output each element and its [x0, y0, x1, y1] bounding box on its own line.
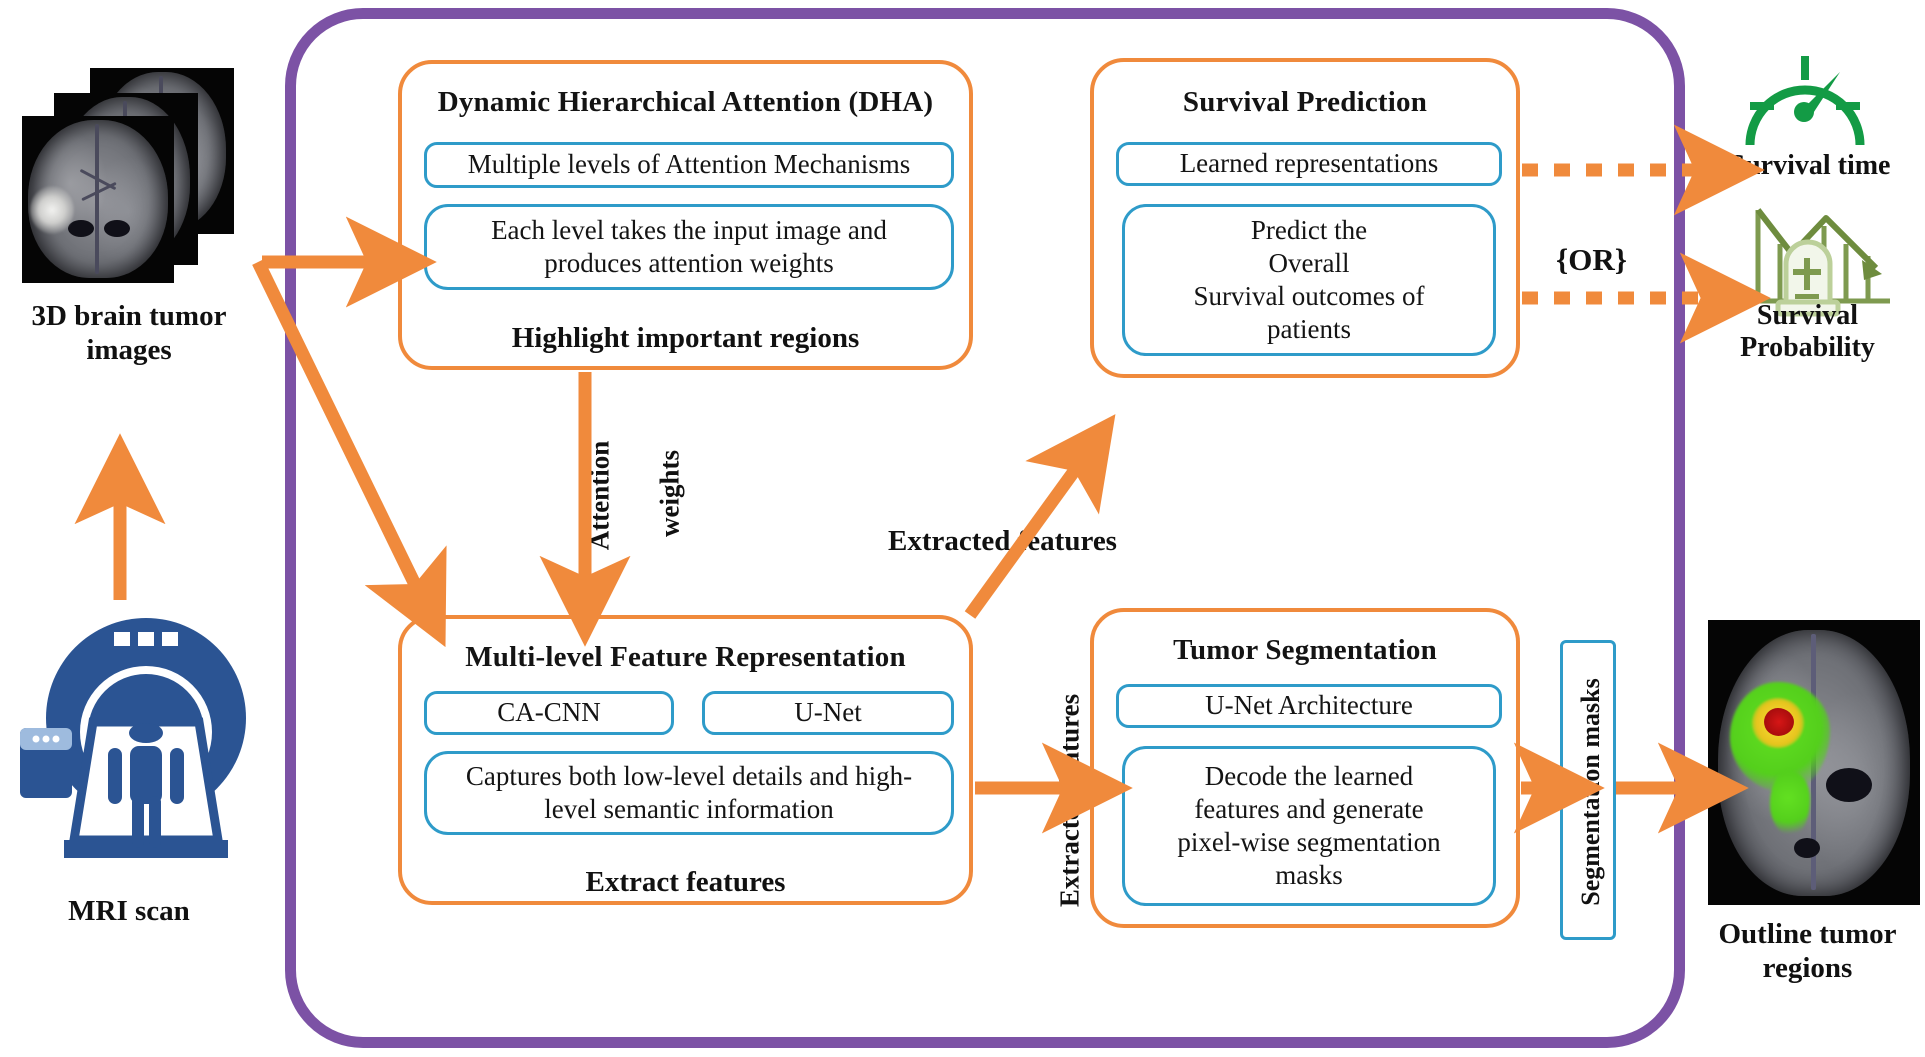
mri-scanner-svg: [18, 600, 248, 890]
outline-tumor-line2: regions: [1763, 952, 1853, 984]
diagram-canvas: 3D brain tumor images: [0, 0, 1925, 1057]
speedometer-gauge-svg: [1730, 40, 1880, 160]
survival-probability-line1: Survival: [1757, 300, 1858, 331]
attention-weights-label-part1: Attention: [585, 421, 616, 571]
outline-tumor-caption: Outline tumor regions: [1690, 918, 1925, 985]
panel-tumor-segmentation: Tumor Segmentation U-Net Architecture De…: [1090, 608, 1520, 928]
survival-box2-line3: Survival outcomes of: [1194, 280, 1425, 313]
panel-survival-prediction: Survival Prediction Learned representati…: [1090, 58, 1520, 378]
segmentation-box2-line3: pixel-wise segmentation: [1177, 826, 1440, 859]
segmentation-box2-line2: features and generate: [1194, 793, 1423, 826]
attention-weights-label-part2: weights: [655, 419, 686, 569]
brain-stack-caption-line2: images: [86, 334, 171, 366]
features-desc-line1: Captures both low-level details and high…: [466, 760, 912, 793]
survival-box-predict-outcomes[interactable]: Predict the Overall Survival outcomes of…: [1122, 204, 1496, 356]
brain-mri-slice-stack-icon: [18, 68, 248, 283]
dha-box2-line2: produces attention weights: [544, 247, 833, 280]
features-title: Multi-level Feature Representation: [402, 641, 969, 674]
features-box-description[interactable]: Captures both low-level details and high…: [424, 751, 954, 835]
features-box-unet[interactable]: U-Net: [702, 691, 954, 735]
panel-dynamic-hierarchical-attention: Dynamic Hierarchical Attention (DHA) Mul…: [398, 60, 973, 370]
survival-probability-caption: Survival Probability: [1690, 300, 1925, 365]
survival-box2-line4: patients: [1267, 313, 1351, 346]
dha-box2-line1: Each level takes the input image and: [491, 214, 887, 247]
segmentation-masks-box[interactable]: Segmentation masks: [1560, 640, 1616, 940]
mri-scan-caption: MRI scan: [6, 895, 252, 929]
survival-title: Survival Prediction: [1094, 86, 1516, 119]
outline-tumor-line1: Outline tumor: [1718, 918, 1896, 950]
brain-stack-caption-line1: 3D brain tumor: [32, 300, 227, 332]
survival-box2-line1: Predict the: [1251, 214, 1367, 247]
dha-footer: Highlight important regions: [402, 322, 969, 356]
extracted-features-diagonal-label: Extracted features: [888, 525, 1117, 558]
dha-box-level-behavior[interactable]: Each level takes the input image and pro…: [424, 204, 954, 290]
segmentation-box-decode[interactable]: Decode the learned features and generate…: [1122, 746, 1496, 906]
segmentation-box2-line1: Decode the learned: [1205, 760, 1413, 793]
speedometer-gauge-icon: [1730, 40, 1880, 160]
dha-title: Dynamic Hierarchical Attention (DHA): [402, 86, 969, 119]
features-desc-line2: level semantic information: [544, 793, 833, 826]
brain-stack-caption: 3D brain tumor images: [6, 300, 252, 367]
segmentation-masks-label: Segmentation masks: [1576, 642, 1606, 942]
survival-box-learned-representations[interactable]: Learned representations: [1116, 142, 1502, 186]
extracted-features-vertical-label: Extracted features: [1055, 651, 1086, 951]
survival-probability-line2: Probability: [1740, 332, 1875, 363]
segmentation-title: Tumor Segmentation: [1094, 634, 1516, 667]
or-label: {OR}: [1556, 242, 1627, 278]
dha-box-attention-levels[interactable]: Multiple levels of Attention Mechanisms: [424, 142, 954, 188]
mri-scanner-icon: [18, 600, 248, 890]
survival-box2-line2: Overall: [1269, 247, 1350, 280]
features-footer: Extract features: [402, 866, 969, 900]
panel-multilevel-feature-representation: Multi-level Feature Representation CA-CN…: [398, 615, 973, 905]
features-box-ca-cnn[interactable]: CA-CNN: [424, 691, 674, 735]
segmented-brain-tumor-overlay-icon: [1708, 620, 1920, 905]
segmentation-box-unet-architecture[interactable]: U-Net Architecture: [1116, 684, 1502, 728]
segmentation-box2-line4: masks: [1275, 859, 1343, 892]
survival-time-caption: Survival time: [1700, 150, 1920, 182]
